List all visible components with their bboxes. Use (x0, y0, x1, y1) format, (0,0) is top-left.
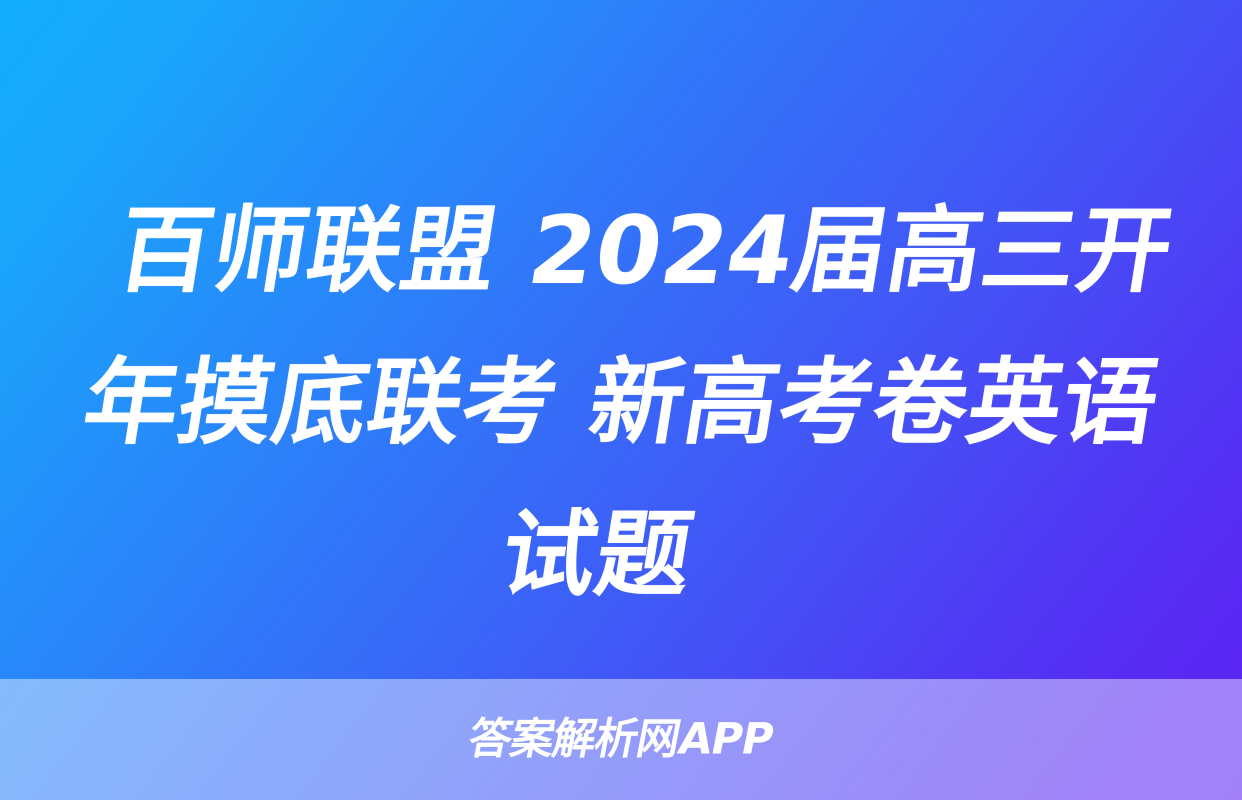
watermark-text: 答案解析网APP (465, 718, 777, 761)
watermark-band: 答案解析网APP (0, 679, 1242, 800)
watermark: 答案解析网APP (0, 718, 1242, 761)
page-title-text: 百师联盟 2024届高三开年摸底联考 新高考卷英语试题 (28, 176, 1214, 632)
page-title: 百师联盟 2024届高三开年摸底联考 新高考卷英语试题 (0, 176, 1242, 632)
exam-cover-canvas: 百师联盟 2024届高三开年摸底联考 新高考卷英语试题 答案解析网APP (0, 0, 1242, 800)
